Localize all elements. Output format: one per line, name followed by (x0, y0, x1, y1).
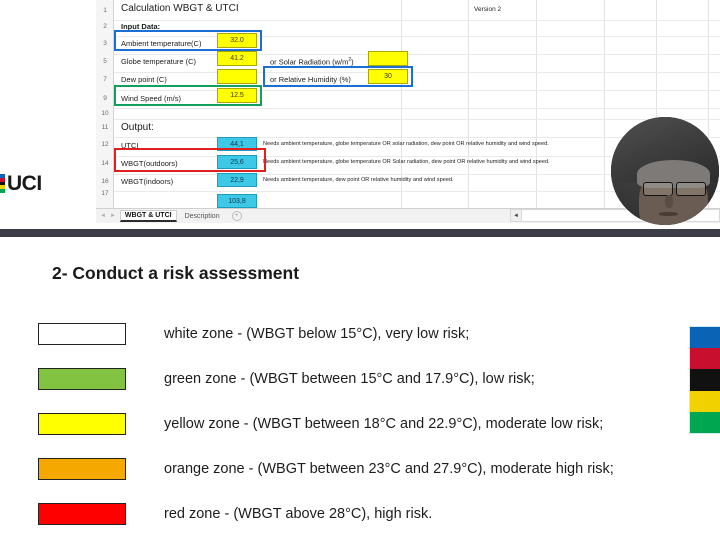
zone-row-yellow: yellow zone - (WBGT between 18°C and 22.… (38, 413, 603, 435)
input-dew-point-cell[interactable] (217, 69, 257, 84)
zone-swatch-orange (38, 458, 126, 480)
version-cell[interactable]: Version 2 (474, 6, 501, 13)
zone-swatch-green (38, 368, 126, 390)
section-divider (0, 229, 720, 237)
row-number: 10 (96, 110, 114, 117)
zone-row-red: red zone - (WBGT above 28°C), high risk. (38, 503, 432, 525)
zone-row-green: green zone - (WBGT between 15°C and 17.9… (38, 368, 535, 390)
label-dew-point[interactable]: Dew point (C) (121, 75, 167, 84)
zone-row-white: white zone - (WBGT below 15°C), very low… (38, 323, 469, 345)
screenshot-root: UCI (0, 0, 720, 550)
webcam-glasses-icon (643, 182, 706, 196)
input-solar-radiation-cell[interactable] (368, 51, 408, 66)
uci-logo: UCI (0, 174, 42, 193)
note-wbgt-indoors: Needs ambient temperature, dew point OR … (263, 177, 454, 183)
slide-title: 2- Conduct a risk assessment (52, 263, 299, 284)
row-header-gutter[interactable] (96, 0, 114, 208)
uci-logo-text: UCI (7, 174, 42, 193)
webcam-bubble[interactable] (611, 117, 719, 225)
zone-label-red: red zone - (WBGT above 28°C), high risk. (164, 506, 432, 522)
output-wbgt-indoors-cell[interactable]: 22,9 (217, 173, 257, 187)
screen-share-area: UCI (0, 0, 720, 229)
row-number: 12 (96, 141, 114, 148)
zone-label-yellow: yellow zone - (WBGT between 18°C and 22.… (164, 416, 603, 432)
row-number: 7 (96, 76, 114, 83)
row-number: 17 (96, 190, 114, 197)
tab-scroll-right-icon[interactable]: ► (110, 213, 116, 219)
sheet-tab-wbgt-utci[interactable]: WBGT & UTCI (120, 210, 177, 222)
zone-swatch-red (38, 503, 126, 525)
note-utci: Needs ambient temperature, globe tempera… (263, 141, 549, 147)
tab-scroll-left-icon[interactable]: ◄ (100, 213, 106, 219)
highlight-relative-humidity (263, 66, 413, 87)
webcam-nose (665, 195, 673, 208)
add-sheet-icon[interactable]: + (232, 211, 242, 221)
label-globe-temperature[interactable]: Globe temperature (C) (121, 57, 196, 66)
highlight-wind-speed (114, 85, 262, 106)
side-bar-black (690, 369, 720, 390)
uci-side-bars (690, 327, 720, 433)
side-bar-blue (690, 327, 720, 348)
label-wbgt-indoors[interactable]: WBGT(indoors) (121, 177, 173, 186)
zone-row-orange: orange zone - (WBGT between 23°C and 27.… (38, 458, 614, 480)
zone-label-green: green zone - (WBGT between 15°C and 17.9… (164, 371, 535, 387)
uci-bar-green (0, 189, 5, 193)
sheet-title-cell[interactable]: Calculation WBGT & UTCI (121, 3, 239, 14)
row-number: 2 (96, 23, 114, 30)
highlight-wbgt-outdoors (114, 148, 266, 172)
row-number: 3 (96, 40, 114, 47)
side-bar-red (690, 348, 720, 369)
note-wbgt-outdoors: Needs ambient temperature, globe tempera… (263, 159, 550, 165)
row-number: 5 (96, 58, 114, 65)
slide-area: 2- Conduct a risk assessment white zone … (0, 237, 720, 550)
zone-label-orange: orange zone - (WBGT between 23°C and 27.… (164, 461, 614, 477)
output-header[interactable]: Output: (121, 122, 154, 133)
highlight-ambient-temperature (114, 30, 262, 51)
row-number: 11 (96, 124, 114, 131)
zone-swatch-yellow (38, 413, 126, 435)
zone-label-white: white zone - (WBGT below 15°C), very low… (164, 326, 469, 342)
row-number: 16 (96, 178, 114, 185)
output-partial-cell[interactable]: 103,8 (217, 194, 257, 208)
sheet-tab-description[interactable]: Description (181, 212, 224, 221)
side-bar-green (690, 412, 720, 433)
scroll-left-icon[interactable]: ◄ (511, 210, 522, 221)
row-number: 14 (96, 160, 114, 167)
uci-logo-bars (0, 174, 5, 193)
zone-swatch-white (38, 323, 126, 345)
side-bar-yellow (690, 391, 720, 412)
input-globe-temperature-cell[interactable]: 41.2 (217, 51, 257, 66)
row-number: 1 (96, 7, 114, 14)
row-number: 9 (96, 95, 114, 102)
